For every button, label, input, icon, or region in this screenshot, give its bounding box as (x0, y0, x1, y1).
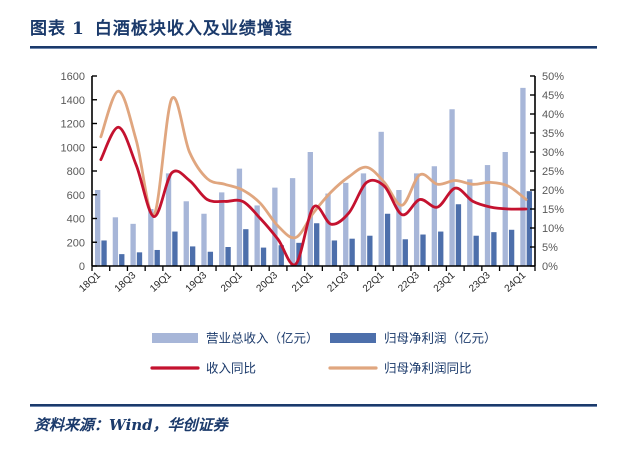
y-tick-label-right: 10% (542, 223, 564, 235)
bar-profit (261, 248, 266, 266)
bar-revenue (343, 183, 348, 266)
bar-profit (403, 239, 408, 266)
x-tick-label: 20Q1 (219, 270, 245, 295)
bar-profit (137, 252, 142, 266)
page-title: 白酒板块收入及业绩增速 (95, 19, 293, 39)
chart-legend: 营业总收入（亿元）归母净利润（亿元）收入同比归母净利润同比 (152, 331, 497, 376)
bar-revenue (414, 173, 419, 266)
bar-revenue (272, 188, 277, 266)
bar-profit (349, 239, 354, 266)
bar-profit (155, 250, 160, 266)
header-divider (30, 46, 597, 49)
legend-label: 营业总收入（亿元） (206, 331, 319, 346)
footer-divider (30, 404, 597, 407)
bar-revenue (184, 201, 189, 266)
x-tick-label: 20Q3 (255, 270, 281, 295)
x-tick-label: 22Q3 (396, 270, 422, 295)
bar-profit (367, 236, 372, 266)
figure-number: 1 (66, 19, 95, 39)
y-tick-label-right: 35% (542, 128, 564, 140)
chart-container: 020040060080010001200140016000%5%10%15%2… (30, 60, 597, 400)
x-tick-label: 18Q1 (77, 270, 103, 295)
y-tick-label-right: 25% (542, 166, 564, 178)
bar-revenue (219, 192, 224, 266)
x-tick-label: 19Q1 (148, 270, 174, 295)
bar-revenue (325, 194, 330, 266)
y-tick-label-left: 800 (67, 166, 85, 178)
x-axis-labels: 18Q118Q319Q119Q320Q120Q321Q121Q322Q122Q3… (77, 270, 528, 295)
bar-revenue (290, 178, 295, 266)
bar-profit (491, 232, 496, 266)
bar-revenue (237, 169, 242, 266)
x-tick-label: 23Q3 (467, 270, 493, 295)
figure-page: 图表1白酒板块收入及业绩增速 0200400600800100012001400… (0, 0, 627, 451)
y-tick-label-right: 50% (542, 71, 564, 83)
y-tick-label-right: 30% (542, 147, 564, 159)
x-tick-label: 23Q1 (432, 270, 458, 295)
bar-revenue (485, 165, 490, 266)
bar-profit (438, 232, 443, 266)
x-tick-label: 21Q3 (325, 270, 351, 295)
legend-swatch-bar (330, 333, 376, 343)
bar-profit (509, 230, 514, 266)
legend-swatch-bar (152, 333, 198, 343)
legend-label: 归母净利润同比 (384, 361, 472, 376)
bar-profit (385, 214, 390, 266)
x-tick-label: 18Q3 (113, 270, 139, 295)
bar-profit (243, 229, 248, 266)
bar-revenue (379, 132, 384, 266)
y-tick-label-left: 200 (67, 237, 85, 249)
y-tick-label-right: 40% (542, 109, 564, 121)
bar-profit (332, 240, 337, 266)
bar-revenue (148, 209, 153, 266)
bar-revenue (130, 224, 135, 266)
legend-label: 收入同比 (206, 361, 256, 376)
bar-profit (101, 240, 106, 266)
y-tick-label-left: 400 (67, 214, 85, 226)
bar-profit (225, 247, 230, 266)
y-tick-label-right: 15% (542, 204, 564, 216)
bar-profit (172, 232, 177, 266)
bar-revenue (467, 179, 472, 266)
y-tick-label-right: 20% (542, 185, 564, 197)
y-tick-label-left: 1400 (61, 95, 85, 107)
bar-profit (208, 252, 213, 266)
bar-profit (119, 254, 124, 266)
bar-profit (314, 223, 319, 266)
y-tick-label-left: 1000 (61, 142, 85, 154)
y-tick-label-right: 45% (542, 90, 564, 102)
bar-profit (456, 204, 461, 266)
y-tick-label-right: 0% (542, 261, 558, 273)
y-tick-label-left: 1600 (61, 71, 85, 83)
y-tick-label-right: 5% (542, 242, 558, 254)
bar-revenue (113, 217, 118, 266)
figure-header: 图表1白酒板块收入及业绩增速 (30, 16, 597, 50)
x-tick-label: 24Q1 (503, 270, 529, 295)
combo-chart: 020040060080010001200140016000%5%10%15%2… (30, 60, 597, 400)
bar-revenue (201, 214, 206, 266)
source-note: 资料来源：Wind，华创证券 (34, 414, 228, 435)
bar-revenue (520, 88, 525, 266)
y-tick-label-left: 600 (67, 190, 85, 202)
bar-profit (190, 246, 195, 266)
figure-caption: 图表1白酒板块收入及业绩增速 (30, 16, 597, 42)
figure-label: 图表 (30, 19, 66, 39)
x-tick-label: 22Q1 (361, 270, 387, 295)
y-tick-label-left: 1200 (61, 119, 85, 131)
x-tick-label: 21Q1 (290, 270, 316, 295)
y-tick-label-left: 0 (79, 261, 85, 273)
bar-revenue (95, 190, 100, 266)
x-tick-label: 19Q3 (184, 270, 210, 295)
bar-profit (474, 236, 479, 266)
legend-label: 归母净利润（亿元） (384, 331, 497, 346)
bar-profit (420, 235, 425, 266)
